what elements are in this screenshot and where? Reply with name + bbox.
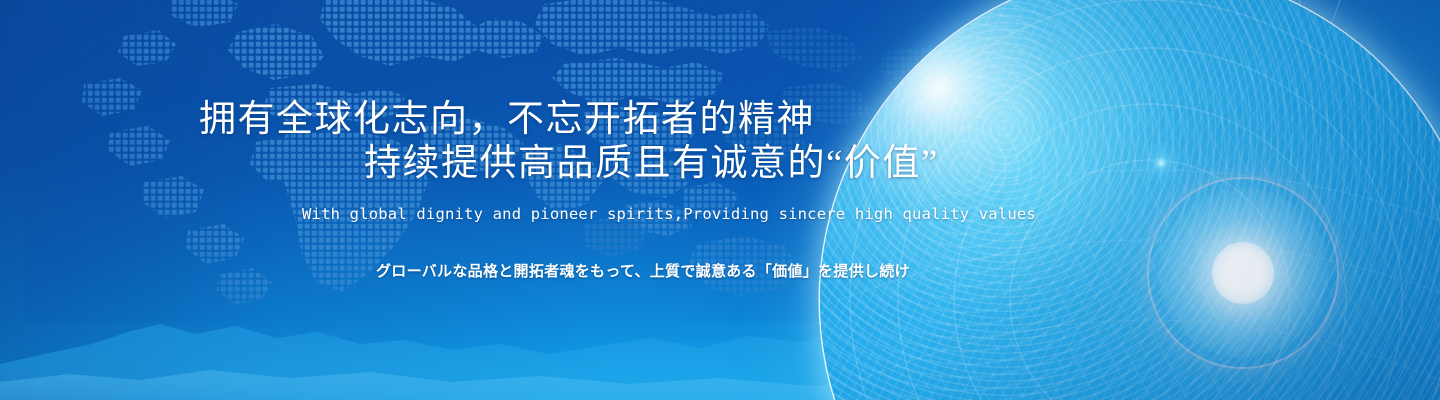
headline-chinese-line-2: 持续提供高品质且有诚意的“价值” xyxy=(364,132,939,186)
subtitle-english: With global dignity and pioneer spirits,… xyxy=(302,205,1036,223)
flare-core xyxy=(1212,242,1274,304)
subtitle-japanese: グローバルな品格と開拓者魂をもって、上質で誠意ある「価値」を提供し続け xyxy=(376,260,910,281)
star-core xyxy=(1155,157,1168,170)
hero-banner: 拥有全球化志向，不忘开拓者的精神 持续提供高品质且有诚意的“价值” With g… xyxy=(0,0,1440,400)
headline-block: 拥有全球化志向，不忘开拓者的精神 持续提供高品质且有诚意的“价值” With g… xyxy=(0,0,1060,400)
